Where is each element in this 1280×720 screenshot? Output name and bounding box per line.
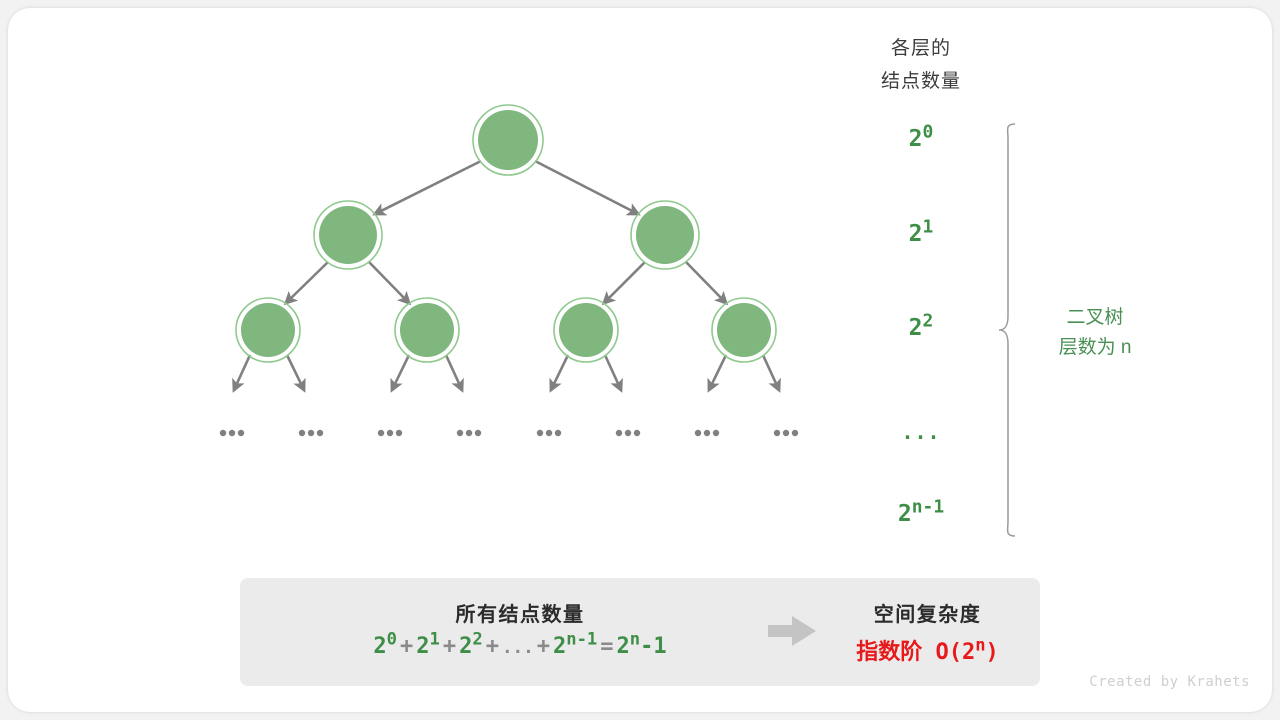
level-count-label-0: 20: [856, 126, 986, 152]
formula-plus-3: +: [483, 634, 502, 659]
tree-node: [319, 206, 377, 264]
brace-annotation-line2: 层数为 n: [1020, 333, 1170, 363]
formula-term-3: 22: [459, 634, 483, 659]
total-nodes-formula: 20+21+22+...+2n-1=2n-1: [240, 634, 800, 659]
level-count-label-2: 22: [856, 315, 986, 341]
formula-equals: =: [597, 634, 616, 659]
space-complexity-title: 空间复杂度: [815, 598, 1040, 627]
tree-node: [717, 303, 771, 357]
tree-node: [400, 303, 454, 357]
level-count-ellipsis: ...: [856, 420, 986, 444]
column-header-line2: 结点数量: [846, 65, 996, 98]
brace-annotation-line1: 二叉树: [1020, 303, 1170, 333]
formula-plus-2: +: [440, 634, 459, 659]
level-count-label-1: 21: [856, 221, 986, 247]
tree-edges: [234, 161, 779, 390]
space-complexity-value: 指数阶 O(2n): [815, 634, 1040, 666]
leaf-ellipsis-dots: [220, 430, 798, 436]
tree-nodes: [236, 105, 776, 362]
formula-result: 2n-1: [616, 634, 666, 659]
level-count-label-last: 2n-1: [856, 501, 986, 527]
total-nodes-title: 所有结点数量: [240, 598, 800, 627]
tree-node: [478, 110, 538, 170]
tree-node: [241, 303, 295, 357]
brace-annotation: 二叉树 层数为 n: [1020, 303, 1170, 363]
implies-arrow-icon: [768, 614, 820, 652]
formula-term-2: 21: [416, 634, 440, 659]
formula-term-last: 2n-1: [553, 634, 597, 659]
tree-node: [636, 206, 694, 264]
tree-node: [559, 303, 613, 357]
watermark-credit: Created by Krahets: [1060, 674, 1250, 690]
figure-canvas: 各层的 结点数量 20 21 22 ... 2n-1 二叉树 层数为 n 所有结…: [0, 0, 1280, 720]
formula-term-1: 20: [373, 634, 397, 659]
column-header-line1: 各层的: [846, 32, 996, 65]
formula-ellipsis: ...: [502, 638, 534, 658]
complexity-order-label: 指数阶: [856, 640, 935, 665]
binary-tree-diagram: [0, 0, 860, 470]
formula-plus-1: +: [397, 634, 416, 659]
column-header: 各层的 结点数量: [846, 32, 996, 98]
formula-plus-4: +: [534, 634, 553, 659]
